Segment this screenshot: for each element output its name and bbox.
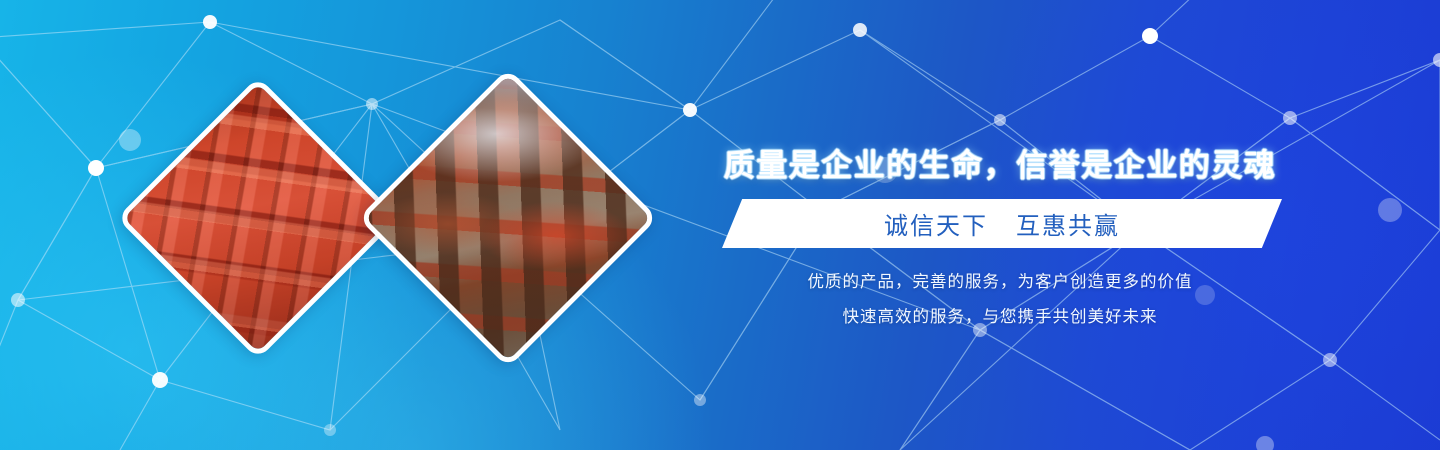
ribbon-left-text: 诚信天下: [884, 213, 988, 240]
product-image-left: [117, 77, 400, 360]
slogan-block: 质量是企业的生命，信誉是企业的灵魂 诚信天下互惠共赢 优质的产品，完善的服务，为…: [700, 0, 1300, 450]
red-drive-shafts-on-pallets-photo: [358, 68, 658, 368]
slogan-ribbon: 诚信天下互惠共赢: [722, 199, 1282, 248]
subtitle-line-2: 快速高效的服务，与您携手共创美好未来: [700, 303, 1300, 327]
subtitle-line-1: 优质的产品，完善的服务，为客户创造更多的价值: [700, 268, 1300, 292]
product-image-right: [358, 68, 658, 368]
red-universal-joint-shafts-photo: [117, 77, 400, 360]
ribbon-right-text: 互惠共赢: [1016, 213, 1120, 240]
hero-banner: 质量是企业的生命，信誉是企业的灵魂 诚信天下互惠共赢 优质的产品，完善的服务，为…: [0, 0, 1440, 450]
ribbon-text-group: 诚信天下互惠共赢: [884, 206, 1120, 241]
headline-text: 质量是企业的生命，信誉是企业的灵魂: [700, 140, 1300, 185]
